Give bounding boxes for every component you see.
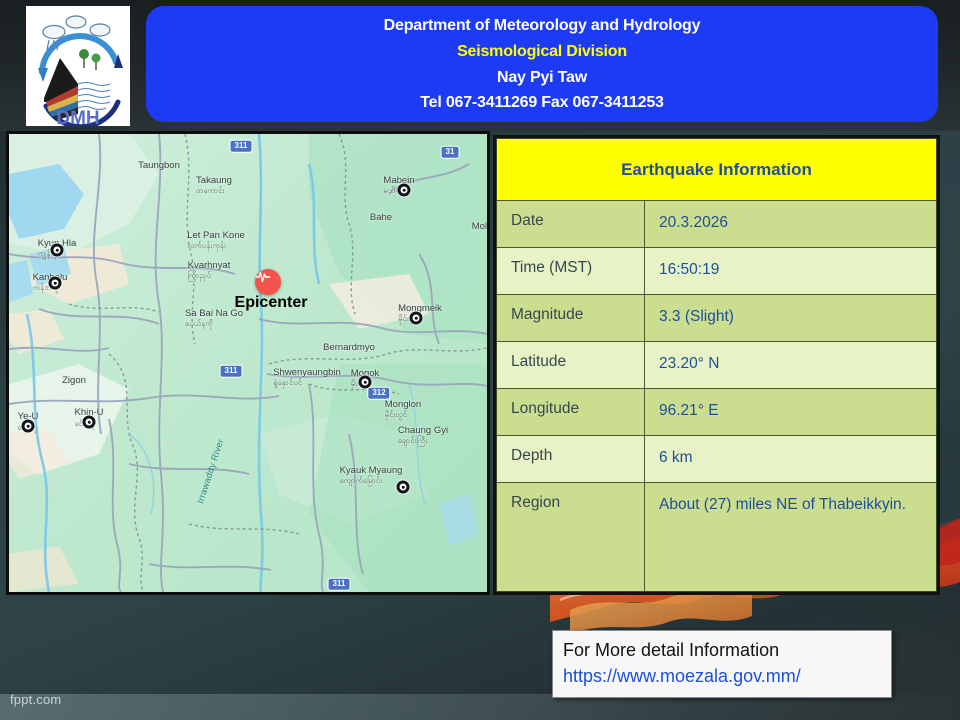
info-row-magnitude: Magnitude3.3 (Slight)	[497, 295, 936, 342]
city-marker-icon-kyun-hla[interactable]	[51, 244, 64, 257]
info-value: 23.20° N	[645, 342, 936, 388]
info-key: Time (MST)	[497, 248, 645, 294]
city-marker-icon-mogok[interactable]	[359, 376, 372, 389]
header-line-city: Nay Pyi Taw	[497, 66, 587, 91]
epicenter-marker-icon[interactable]	[255, 269, 281, 295]
dmh-logo: DMH	[26, 6, 130, 126]
earthquake-info-panel: Earthquake Information Date20.3.2026Time…	[493, 135, 940, 595]
info-value: 96.21° E	[645, 389, 936, 435]
info-value: 3.3 (Slight)	[645, 295, 936, 341]
info-key: Latitude	[497, 342, 645, 388]
info-row-date: Date20.3.2026	[497, 201, 936, 248]
info-value: 6 km	[645, 436, 936, 482]
seismograph-wave-icon	[255, 269, 271, 285]
info-panel-title: Earthquake Information	[497, 139, 936, 201]
info-row-longitude: Longitude96.21° E	[497, 389, 936, 436]
highway-shield-311-mid: 311	[220, 365, 243, 378]
header-line-contact: Tel 067-3411269 Fax 067-3411253	[420, 91, 664, 116]
info-value: 20.3.2026	[645, 201, 936, 247]
fppt-watermark: fppt.com	[10, 692, 61, 707]
highway-shield-312: 312	[367, 387, 390, 400]
info-key: Magnitude	[497, 295, 645, 341]
logo-text: DMH	[56, 108, 99, 126]
info-row-latitude: Latitude23.20° N	[497, 342, 936, 389]
info-row-time-mst: Time (MST)16:50:19	[497, 248, 936, 295]
map-frame: Irrawaddy River 311 31 311 312 311 Taung…	[6, 131, 490, 595]
header-line-division: Seismological Division	[457, 40, 627, 65]
info-value: 16:50:19	[645, 248, 936, 294]
header-line-department: Department of Meteorology and Hydrology	[384, 14, 701, 39]
epicenter-map[interactable]: Irrawaddy River 311 31 311 312 311 Taung…	[9, 134, 487, 592]
info-key: Longitude	[497, 389, 645, 435]
highway-shield-311-south: 311	[328, 578, 351, 591]
info-row-region: RegionAbout (27) miles NE of Thabeikkyin…	[497, 483, 936, 591]
highway-shield-31: 31	[441, 146, 460, 159]
city-marker-icon-ye-u[interactable]	[22, 420, 35, 433]
city-marker-icon-mongmeik[interactable]	[410, 312, 423, 325]
epicenter-label: Epicenter	[235, 294, 308, 312]
more-information-box[interactable]: For More detail Information https://www.…	[552, 630, 892, 698]
info-rows-container: Date20.3.2026Time (MST)16:50:19Magnitude…	[497, 201, 936, 591]
highway-shield-311-north: 311	[230, 140, 253, 153]
city-marker-icon-khin-u[interactable]	[83, 416, 96, 429]
city-marker-icon-kanbalu[interactable]	[49, 277, 62, 290]
more-info-label: For More detail Information	[563, 638, 891, 664]
org-header-banner: Department of Meteorology and Hydrology …	[146, 6, 938, 122]
city-marker-icon-mabein[interactable]	[398, 184, 411, 197]
map-base-graphic	[9, 134, 487, 592]
info-value: About (27) miles NE of Thabeikkyin.	[645, 483, 936, 591]
info-key: Date	[497, 201, 645, 247]
city-marker-icon-kyauk-myaung[interactable]	[397, 481, 410, 494]
info-key: Depth	[497, 436, 645, 482]
info-key: Region	[497, 483, 645, 591]
moezala-website-link[interactable]: https://www.moezala.gov.mm/	[563, 664, 891, 690]
info-row-depth: Depth 6 km	[497, 436, 936, 483]
